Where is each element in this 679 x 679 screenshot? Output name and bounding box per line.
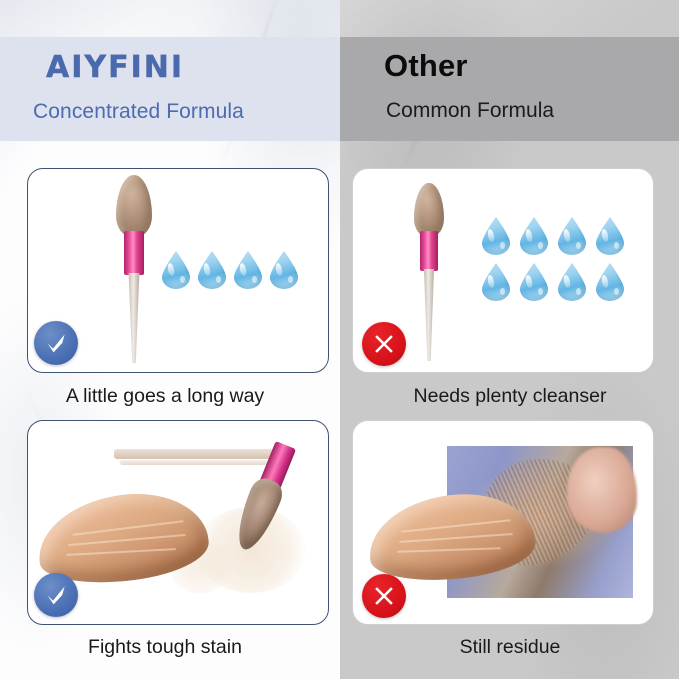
hand-skin (567, 447, 637, 533)
glass-bar (114, 449, 274, 459)
water-droplet-icon (519, 217, 549, 255)
caption-bottom-left: Fights tough stain (0, 636, 335, 659)
cross-icon (371, 583, 397, 609)
water-droplet-icon (481, 217, 511, 255)
water-droplet-icon (269, 251, 299, 289)
water-droplet-icon (595, 217, 625, 255)
check-badge (34, 321, 78, 365)
left-subtitle: Concentrated Formula (33, 100, 244, 124)
cross-badge (362, 322, 406, 366)
caption-top-left: A little goes a long way (0, 385, 335, 408)
water-droplet-icon (595, 263, 625, 301)
water-droplet-icon (197, 251, 227, 289)
droplet-group-right (481, 217, 627, 305)
comparison-infographic: AIYFINI Concentrated Formula Other Commo… (0, 0, 679, 679)
right-title: Other (384, 48, 468, 84)
water-droplet-icon (557, 217, 587, 255)
cross-icon (371, 331, 397, 357)
water-droplet-icon (481, 263, 511, 301)
water-droplet-icon (519, 263, 549, 301)
makeup-brush-icon (408, 183, 450, 359)
check-icon (42, 329, 70, 357)
glass-bar (120, 460, 268, 465)
caption-top-right: Needs plenty cleanser (340, 385, 679, 408)
caption-bottom-right: Still residue (340, 636, 679, 659)
water-droplet-icon (557, 263, 587, 301)
right-subtitle: Common Formula (386, 99, 554, 123)
cross-badge (362, 574, 406, 618)
droplet-group-left (161, 251, 299, 289)
makeup-brush-icon (111, 175, 157, 361)
check-icon (42, 581, 70, 609)
water-droplet-icon (161, 251, 191, 289)
brand-logo: AIYFINI (46, 50, 184, 85)
water-droplet-icon (233, 251, 263, 289)
check-badge (34, 573, 78, 617)
